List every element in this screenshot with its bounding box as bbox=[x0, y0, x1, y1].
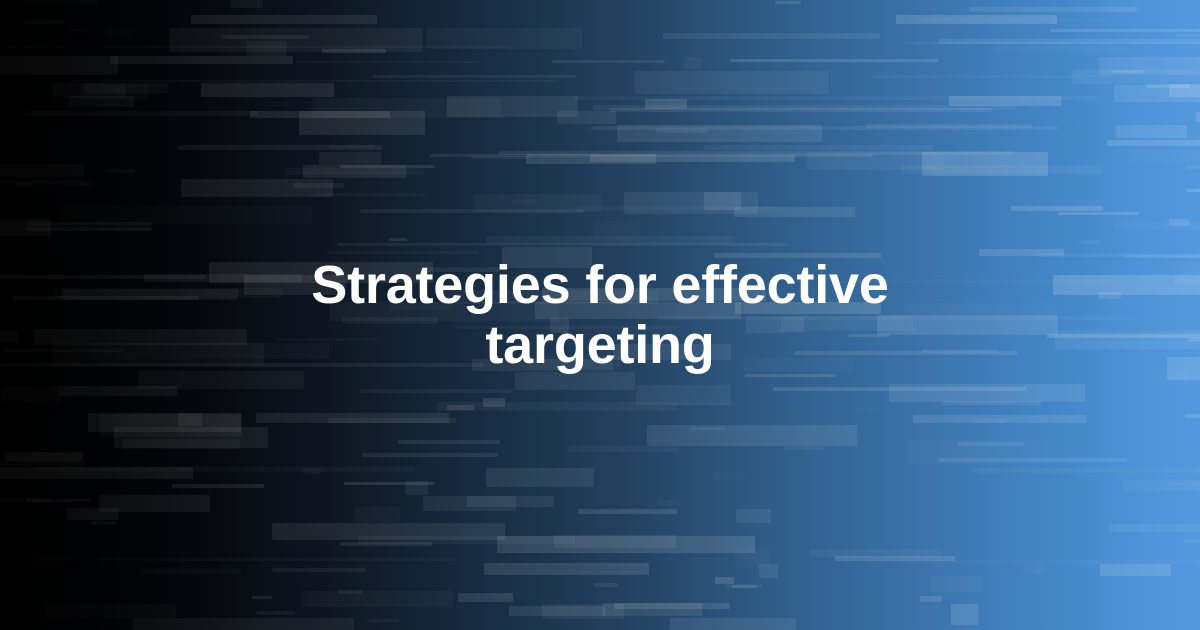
social-share-card: Strategies for effective targeting bbox=[0, 0, 1200, 630]
background-gradient bbox=[0, 0, 1200, 630]
